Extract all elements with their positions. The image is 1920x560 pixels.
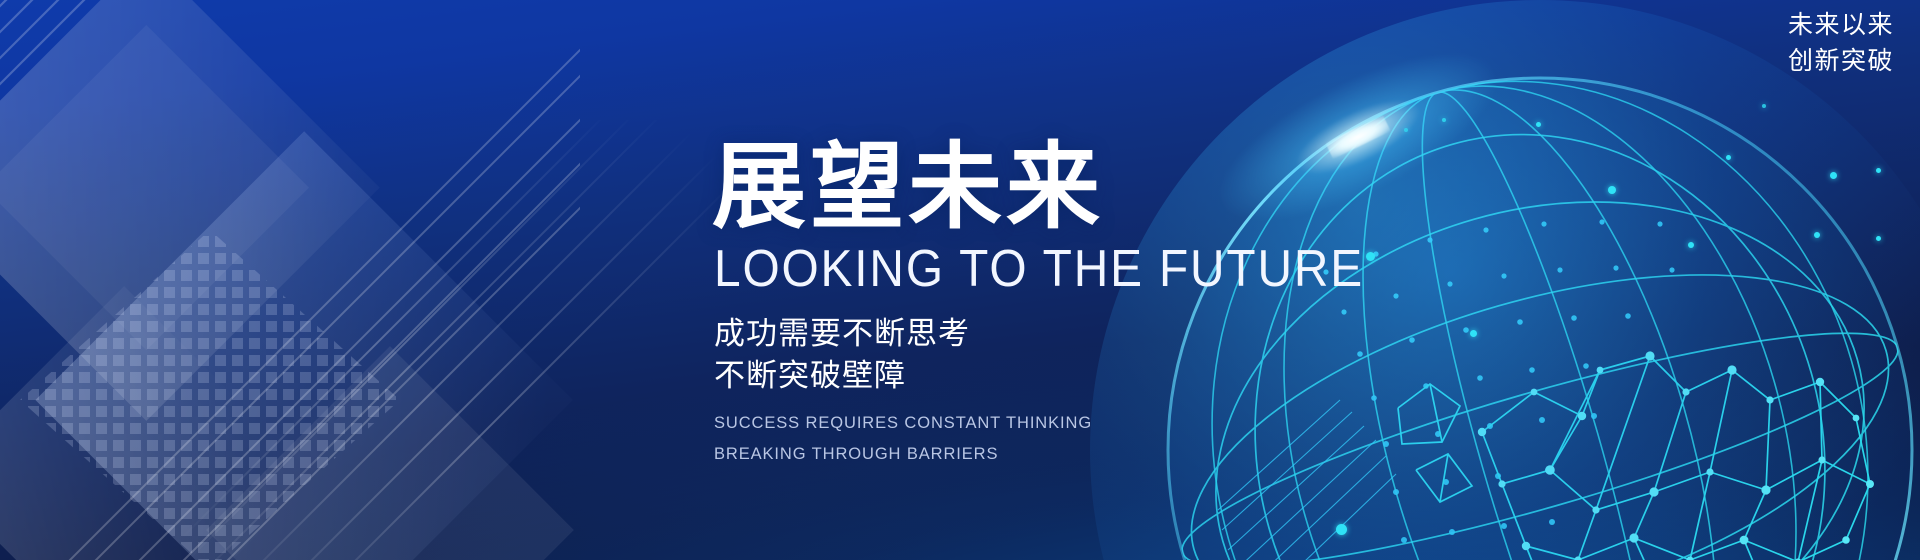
corner-slogan-line-1: 未来以来	[1788, 8, 1894, 44]
subtitle-english: SUCCESS REQUIRES CONSTANT THINKING BREAK…	[714, 408, 1412, 469]
subtitle-english-line-2: BREAKING THROUGH BARRIERS	[714, 439, 1412, 470]
corner-slogan: 未来以来 创新突破	[1788, 8, 1894, 79]
subtitle-chinese: 成功需要不断思考 不断突破壁障	[714, 313, 1412, 396]
promo-banner: 未来以来 创新突破 展望未来 LOOKING TO THE FUTURE 成功需…	[0, 0, 1920, 560]
subtitle-chinese-line-2: 不断突破壁障	[714, 355, 1412, 397]
subtitle-english-line-1: SUCCESS REQUIRES CONSTANT THINKING	[714, 408, 1412, 439]
page-title: 展望未来	[712, 140, 1412, 234]
headline-block: 展望未来 LOOKING TO THE FUTURE 成功需要不断思考 不断突破…	[712, 140, 1412, 470]
page-title-english: LOOKING TO THE FUTURE	[714, 242, 1356, 297]
subtitle-chinese-line-1: 成功需要不断思考	[714, 313, 1412, 355]
corner-slogan-line-2: 创新突破	[1788, 44, 1894, 80]
diagonal-streaks-decoration	[180, 120, 740, 560]
left-pattern-decoration	[0, 0, 580, 560]
